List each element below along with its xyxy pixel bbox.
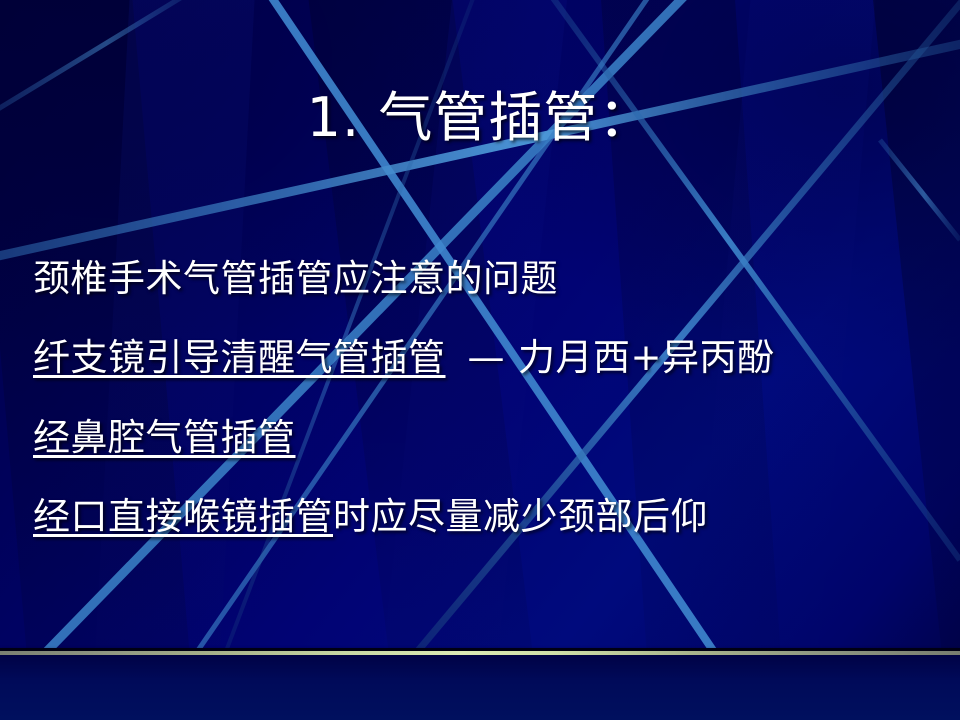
body-line-2-drug-text: 力月西+异丙酚 (518, 336, 775, 379)
slide-body: 颈椎手术气管插管应注意的问题 纤支镜引导清醒气管插管—力月西+异丙酚 经鼻腔气管… (33, 258, 933, 538)
body-line-4-plain-text: 时应尽量减少颈部后仰 (333, 495, 708, 538)
body-line-4: 经口直接喉镜插管时应尽量减少颈部后仰 (33, 496, 933, 537)
slide-canvas: 1. 气管插管： 颈椎手术气管插管应注意的问题 纤支镜引导清醒气管插管—力月西+… (0, 0, 960, 720)
body-line-2-dash: — (468, 336, 506, 379)
body-line-2: 纤支镜引导清醒气管插管—力月西+异丙酚 (33, 337, 933, 378)
body-line-1: 颈椎手术气管插管应注意的问题 (33, 258, 933, 299)
slide-title: 1. 气管插管： (0, 88, 960, 148)
footer-band (0, 654, 960, 720)
body-line-3: 经鼻腔气管插管 (33, 417, 933, 458)
body-line-1-text: 颈椎手术气管插管应注意的问题 (33, 257, 558, 300)
body-line-2-underlined-text: 纤支镜引导清醒气管插管 (33, 336, 446, 379)
body-line-3-underlined-text: 经鼻腔气管插管 (33, 416, 296, 459)
footer-divider-rule (0, 651, 960, 655)
body-line-4-underlined-text: 经口直接喉镜插管 (33, 495, 333, 538)
